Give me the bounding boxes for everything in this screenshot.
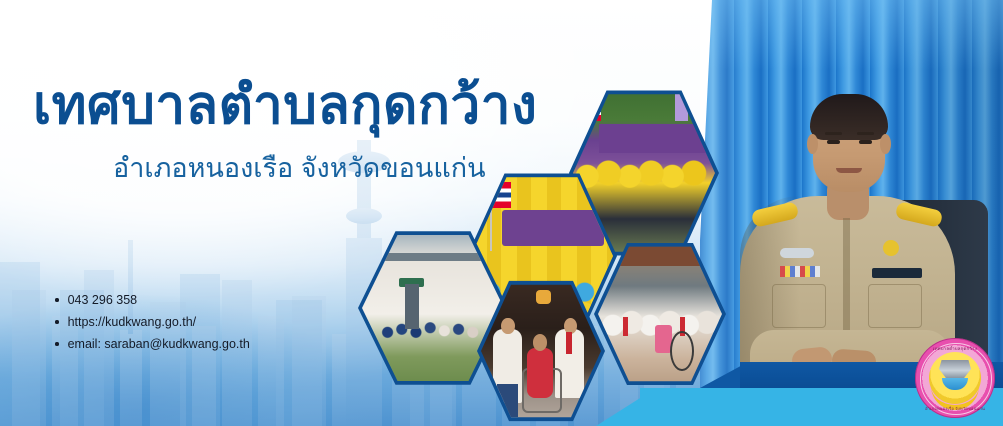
municipality-seal[interactable]: เทศบาลตำบลกุดกว้าง อำเภอหนองเรือ จังหวัด…: [915, 338, 995, 418]
seal-text-bottom: อำเภอหนองเรือ จังหวัดขอนแก่น: [915, 405, 995, 412]
seal-text-top: เทศบาลตำบลกุดกว้าง: [915, 345, 995, 352]
municipality-banner: เทศบาลตำบลกุดกว้าง อำเภอหนองเรือ จังหวัด…: [0, 0, 1003, 426]
photo-collage: [0, 0, 1003, 426]
